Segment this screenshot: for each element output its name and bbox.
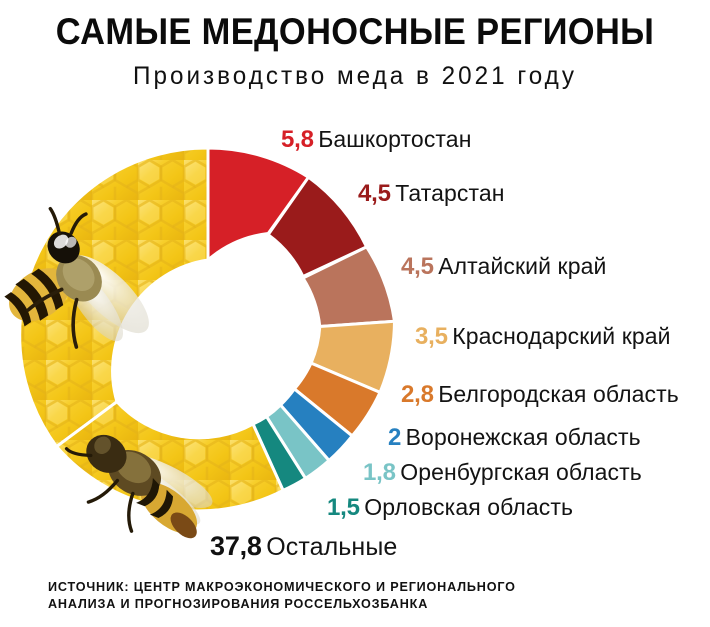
label-name-bashkortostan: Башкортостан xyxy=(318,126,471,152)
label-value-altaiskiy-kray: 4,5 xyxy=(401,253,434,280)
donut-segments xyxy=(20,148,395,511)
label-name-orlovskaya-oblast: Орловская область xyxy=(364,494,573,520)
label-name-orenburgskaya-oblast: Оренбургская область xyxy=(400,459,642,485)
segment-orenburgskaya-oblast xyxy=(267,405,330,478)
segment-bashkortostan xyxy=(208,148,309,260)
label-name-altaiskiy-kray: Алтайский край xyxy=(438,253,606,279)
label-name-krasnodarskiy-kray: Краснодарский край xyxy=(452,323,670,349)
label-orenburgskaya-oblast: 1,8 Оренбургская область xyxy=(363,461,642,485)
source-line-1: ИСТОЧНИК: ЦЕНТР МАКРОЭКОНОМИЧЕСКОГО И РЕ… xyxy=(48,579,516,594)
bee-top-icon xyxy=(0,196,186,385)
segment-orlovskaya-oblast xyxy=(253,417,306,491)
segment-altaiskiy-kray xyxy=(303,247,395,327)
page-title: САМЫЕ МЕДОНОСНЫЕ РЕГИОНЫ xyxy=(25,0,685,53)
source-line-2: АНАЛИЗА И ПРОГНОЗИРОВАНИЯ РОССЕЛЬХОЗБАНК… xyxy=(48,595,649,612)
label-name-tatarstan: Татарстан xyxy=(395,180,504,206)
label-orlovskaya-oblast: 1,5 Орловская область xyxy=(327,496,573,520)
label-krasnodarskiy-kray: 3,5 Краснодарский край xyxy=(415,325,671,349)
segment-ostalnye xyxy=(20,148,208,447)
label-tatarstan: 4,5 Татарстан xyxy=(358,182,505,206)
label-value-bashkortostan: 5,8 xyxy=(281,126,314,153)
label-name-voronezhskaya-oblast: Воронежская область xyxy=(406,424,641,450)
label-value-orenburgskaya-oblast: 1,8 xyxy=(363,459,396,486)
label-value-tatarstan: 4,5 xyxy=(358,180,391,207)
label-altaiskiy-kray: 4,5 Алтайский край xyxy=(401,255,606,279)
bee-bottom-icon xyxy=(49,406,226,563)
label-belgorodskaya-oblast: 2,8 Белгородская область xyxy=(401,383,679,407)
segment-belgorodskaya-oblast xyxy=(294,363,380,436)
source-note: ИСТОЧНИК: ЦЕНТР МАКРОЭКОНОМИЧЕСКОГО И РЕ… xyxy=(48,578,649,612)
label-bashkortostan: 5,8 Башкортостан xyxy=(281,128,472,152)
label-name-ostalnye: Остальные xyxy=(266,533,397,561)
label-value-ostalnye: 37,8 xyxy=(210,531,262,561)
label-value-voronezhskaya-oblast: 2 xyxy=(388,424,401,451)
label-value-krasnodarskiy-kray: 3,5 xyxy=(415,323,448,350)
label-value-orlovskaya-oblast: 1,5 xyxy=(327,494,360,521)
bee-illustrations xyxy=(0,196,226,564)
label-name-belgorodskaya-oblast: Белгородская область xyxy=(438,381,679,407)
segment-krasnodarskiy-kray xyxy=(311,321,394,392)
header: САМЫЕ МЕДОНОСНЫЕ РЕГИОНЫ Производство ме… xyxy=(0,0,710,90)
page-subtitle: Производство меда в 2021 году xyxy=(11,53,700,90)
segment-tatarstan xyxy=(268,177,366,276)
label-value-belgorodskaya-oblast: 2,8 xyxy=(401,381,434,408)
label-ostalnye: 37,8 Остальные xyxy=(210,533,397,560)
segment-ostalnye-tail xyxy=(57,402,284,511)
segment-voronezhskaya-oblast xyxy=(281,389,353,461)
infographic-root: САМЫЕ МЕДОНОСНЫЕ РЕГИОНЫ Производство ме… xyxy=(0,0,710,627)
label-voronezhskaya-oblast: 2 Воронежская область xyxy=(388,426,641,450)
